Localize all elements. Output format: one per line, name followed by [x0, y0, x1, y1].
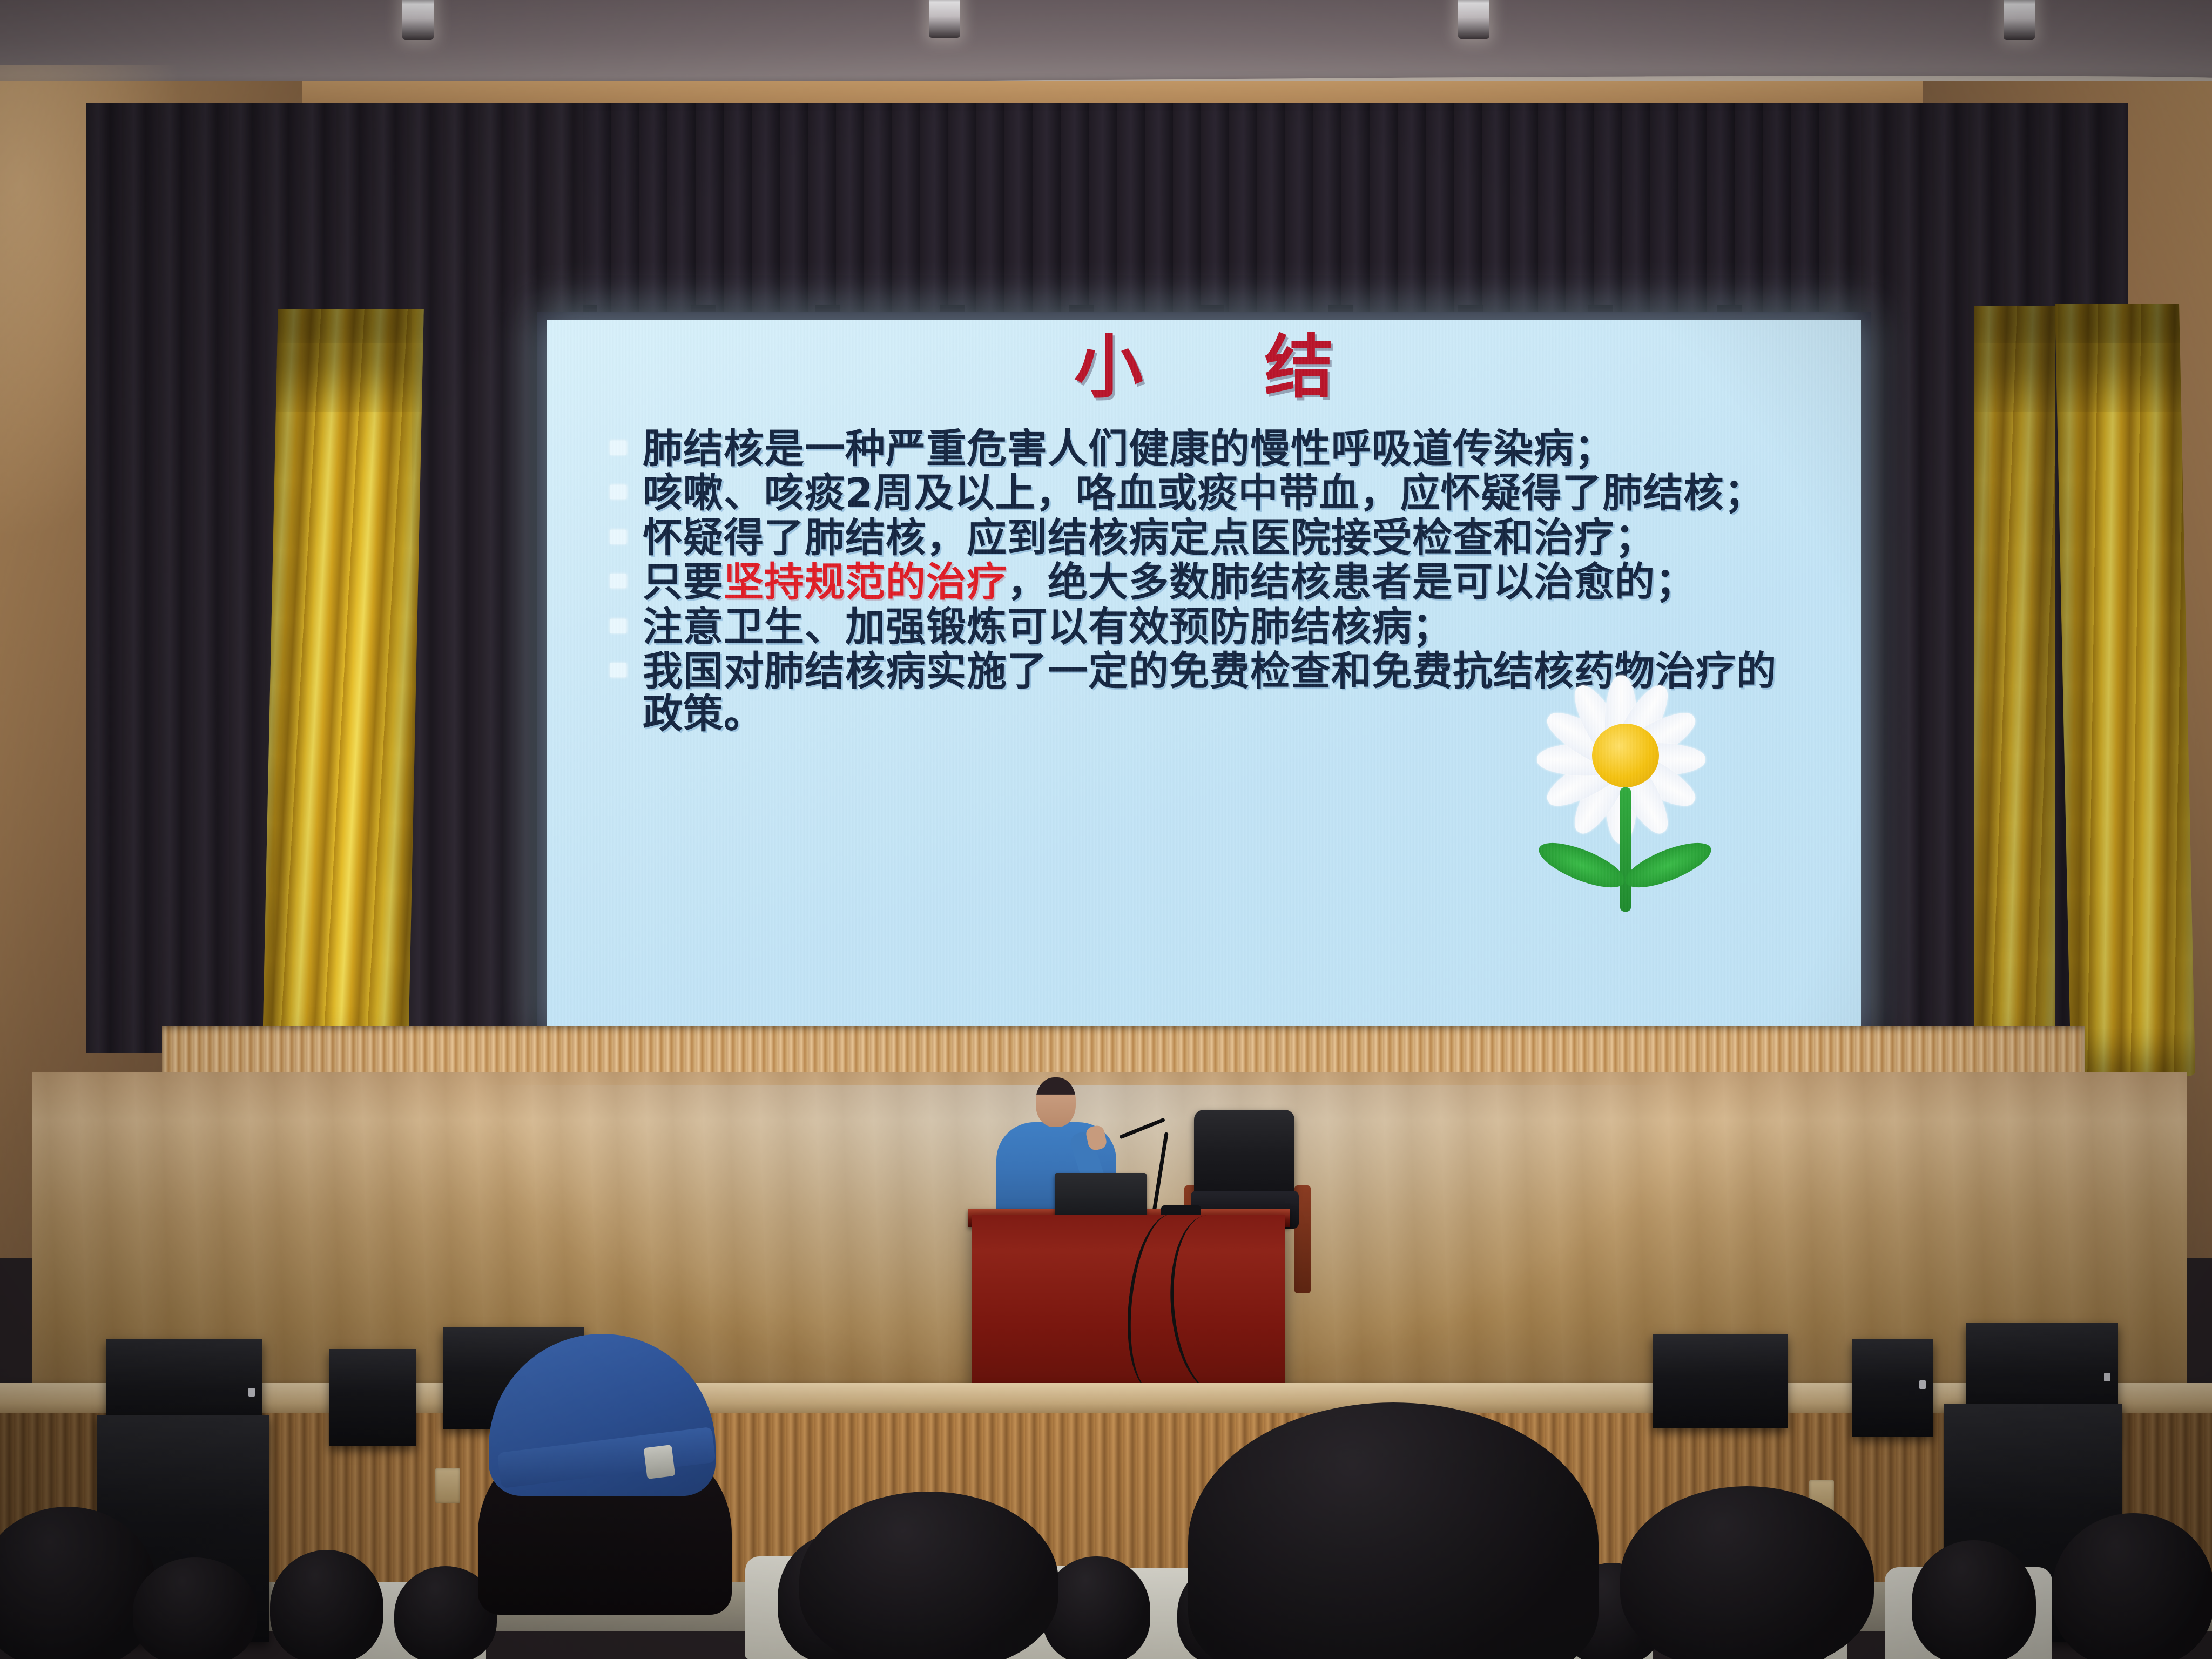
yellow-curtain-right — [2055, 304, 2195, 1076]
bullet-text-highlight: 坚持规范的治疗 — [724, 559, 1007, 605]
audience-member-with-cap — [489, 1334, 748, 1528]
bullet-text: 注意卫生、加强锻炼可以有效预防肺结核病； — [643, 606, 1453, 648]
audience-head — [270, 1550, 383, 1659]
slide-bullet-item: 咳嗽、咳痰2周及以上，咯血或痰中带血，应怀疑得了肺结核； — [610, 472, 1809, 514]
ceiling-spotlight — [2004, 0, 2035, 40]
audience-area — [0, 1378, 2212, 1659]
bullet-marker-icon — [610, 441, 626, 455]
audience-head — [133, 1557, 257, 1659]
audience-head — [0, 1507, 157, 1659]
slide-bullet-item-highlighted: 只要坚持规范的治疗，绝大多数肺结核患者是可以治愈的； — [610, 561, 1809, 603]
bullet-text-before: 只要 — [643, 559, 724, 605]
audience-head — [1912, 1540, 2036, 1659]
audience-head-foreground — [799, 1492, 1058, 1659]
bullet-text: 咳嗽、咳痰2周及以上，咯血或痰中带血，应怀疑得了肺结核； — [643, 472, 1765, 514]
daisy-flower-icon — [1497, 660, 1751, 941]
yellow-curtain-left — [262, 309, 424, 1070]
bullet-text-composite: 只要坚持规范的治疗，绝大多数肺结核患者是可以治愈的； — [643, 561, 1696, 603]
flower-center — [1592, 724, 1659, 787]
projected-slide: 小 结 肺结核是一种严重危害人们健康的慢性呼吸道传染病； 咳嗽、咳痰2周及以上，… — [547, 320, 1861, 1036]
bullet-marker-icon — [610, 663, 626, 677]
slide-bullet-item: 肺结核是一种严重危害人们健康的慢性呼吸道传染病； — [610, 428, 1809, 470]
ceiling-spotlight — [1458, 0, 1489, 39]
flower-stem — [1620, 787, 1631, 912]
slide-bullet-item: 怀疑得了肺结核，应到结核病定点医院接受检查和治疗； — [610, 517, 1809, 559]
bullet-text: 怀疑得了肺结核，应到结核病定点医院接受检查和治疗； — [643, 517, 1655, 559]
slide-title: 小 结 — [547, 320, 1861, 411]
presenter-head — [1036, 1077, 1076, 1127]
cap-logo-badge — [644, 1445, 676, 1479]
slide-bullet-item: 注意卫生、加强锻炼可以有效预防肺结核病； — [610, 606, 1809, 648]
bullet-marker-icon — [610, 530, 626, 544]
ceiling-spotlight — [402, 0, 434, 40]
bullet-marker-icon — [610, 619, 626, 633]
flower-leaf-left — [1534, 834, 1630, 896]
auditorium-photo: 小 结 肺结核是一种严重危害人们健康的慢性呼吸道传染病； 咳嗽、咳痰2周及以上，… — [0, 0, 2212, 1659]
audience-head-foreground — [1188, 1402, 1599, 1659]
bullet-text: 肺结核是一种严重危害人们健康的慢性呼吸道传染病； — [643, 428, 1615, 470]
ceiling-spotlight — [929, 0, 960, 38]
audience-head — [2052, 1513, 2212, 1659]
chair-backrest — [1194, 1110, 1294, 1196]
yellow-curtain-right-inner — [1974, 306, 2055, 1067]
audience-head-foreground — [1620, 1486, 1874, 1659]
bullet-text-after: ，绝大多数肺结核患者是可以治愈的； — [1007, 559, 1696, 605]
bullet-marker-icon — [610, 574, 626, 588]
audience-head — [1042, 1556, 1150, 1659]
flower-leaf-right — [1620, 834, 1717, 896]
bullet-marker-icon — [610, 485, 626, 499]
